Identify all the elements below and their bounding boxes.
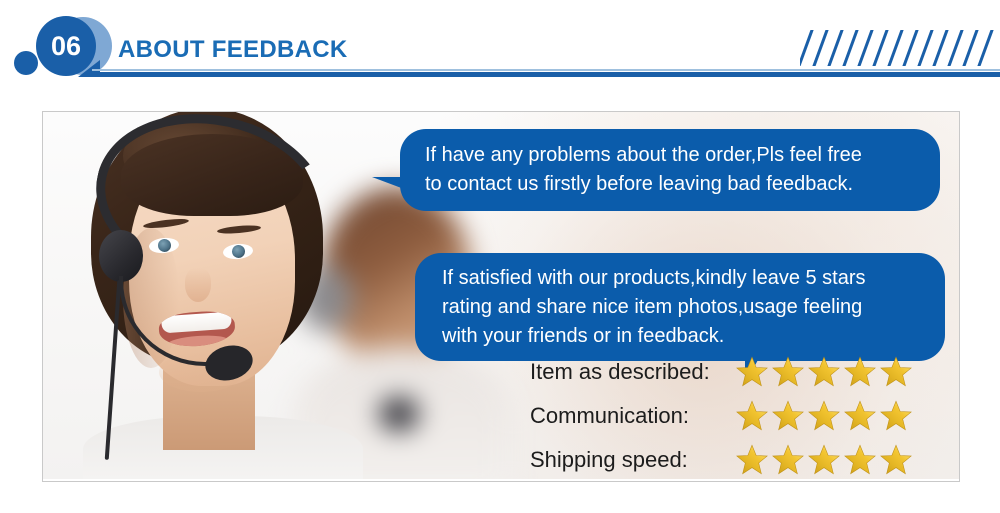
star-icon [771,399,805,433]
star-icon [843,399,877,433]
stripe [811,30,830,66]
foreground-agent-figure [63,112,383,479]
speech-bubble-satisfied: If satisfied with our products,kindly le… [415,253,945,361]
rating-label: Communication: [530,403,735,429]
stripe [856,30,875,66]
page-title: ABOUT FEEDBACK [118,36,348,64]
diagonal-stripes-decoration [800,30,1000,66]
star-icon [735,355,769,389]
star-icon [771,355,805,389]
stripe [901,30,920,66]
stripe [931,30,950,66]
rating-label: Shipping speed: [530,447,735,473]
bubble-2-line-3: with your friends or in feedback. [442,322,945,351]
rating-row: Shipping speed: [530,438,913,482]
rating-row: Communication: [530,394,913,438]
star-icon [807,443,841,477]
stripe [826,30,845,66]
headset-earcup-icon [99,230,143,282]
star-icon [843,355,877,389]
section-number-label: 06 [51,33,81,60]
stripe [961,30,980,66]
rating-list: Item as described:Communication:Shipping… [530,350,913,482]
star-rating [735,443,913,477]
stripe [886,30,905,66]
star-icon [807,399,841,433]
rating-row: Item as described: [530,350,913,394]
star-icon [735,443,769,477]
bubble-1-line-1: If have any problems about the order,Pls… [425,141,940,170]
rating-label: Item as described: [530,359,735,385]
star-icon [879,399,913,433]
bubble-2-line-2: rating and share nice item photos,usage … [442,293,945,322]
bubble-2-line-1: If satisfied with our products,kindly le… [442,264,945,293]
star-icon [879,355,913,389]
star-icon [807,355,841,389]
star-icon [735,399,769,433]
decorative-dot [14,51,38,75]
speech-bubble-problems: If have any problems about the order,Pls… [400,129,940,211]
divider-thick [96,72,1000,77]
star-icon [879,443,913,477]
bubble-1-line-2: to contact us firstly before leaving bad… [425,170,940,199]
divider-thin [92,69,1000,71]
feedback-banner: 06 ABOUT FEEDBACK [0,0,1000,513]
star-rating [735,399,913,433]
star-icon [843,443,877,477]
stripe [841,30,860,66]
star-rating [735,355,913,389]
section-header: 06 ABOUT FEEDBACK [0,0,1000,95]
stripe [871,30,890,66]
stripe [800,30,815,66]
stripe [976,30,995,66]
stripe [916,30,935,66]
star-icon [771,443,805,477]
stripe [946,30,965,66]
